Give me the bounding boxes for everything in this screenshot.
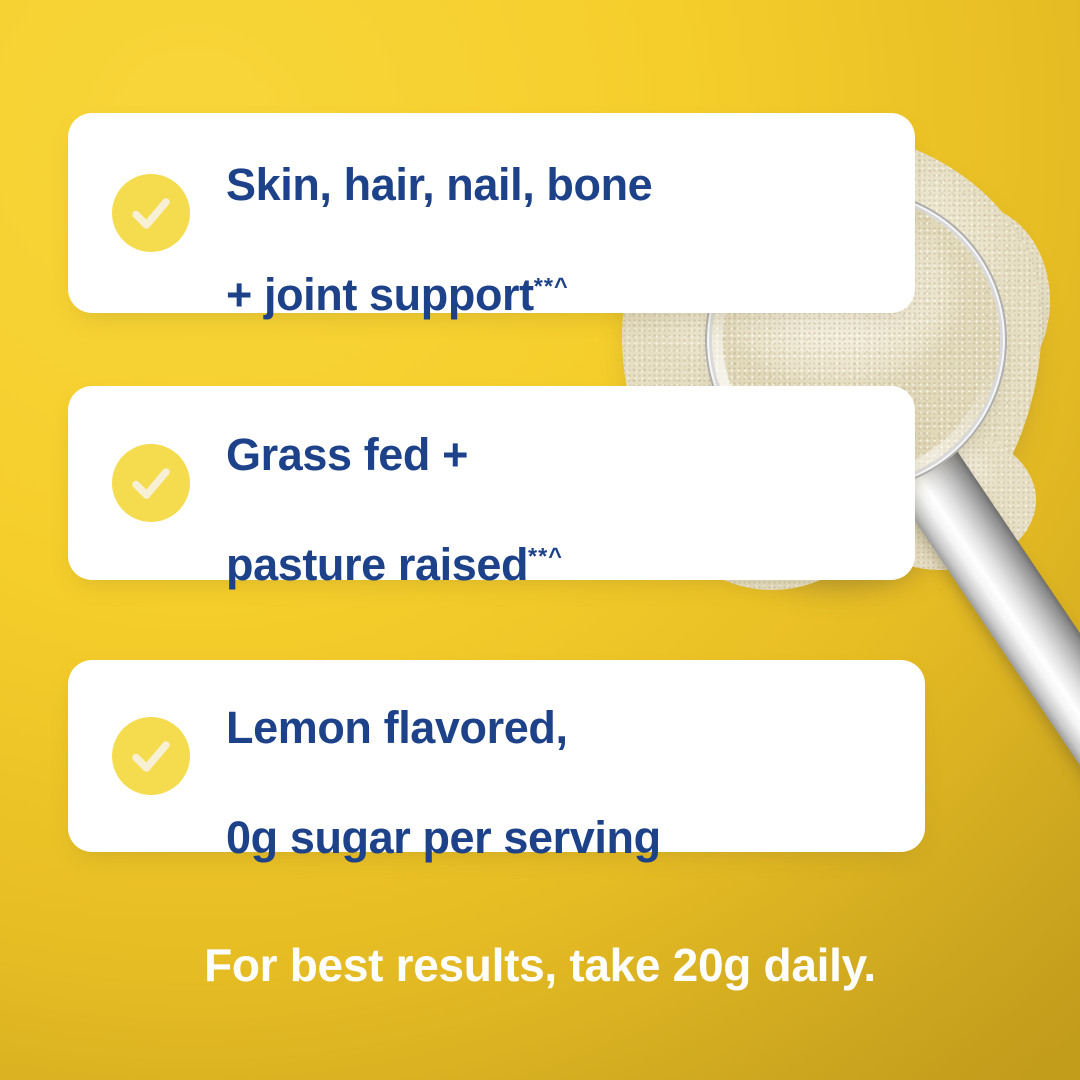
check-icon xyxy=(112,717,190,795)
usage-instruction: For best results, take 20g daily. xyxy=(0,938,1080,992)
benefit-line-2: 0g sugar per serving xyxy=(226,812,661,863)
benefit-card-2: Grass fed + pasture raised**^ xyxy=(68,386,915,580)
benefit-line-1: Lemon flavored, xyxy=(226,702,568,753)
footnote-marker: **^ xyxy=(534,273,569,299)
benefit-text-2: Grass fed + pasture raised**^ xyxy=(226,373,563,593)
benefit-line-1: Skin, hair, nail, bone xyxy=(226,159,652,210)
benefit-card-list: Skin, hair, nail, bone + joint support**… xyxy=(0,0,1080,1080)
promo-graphic: Skin, hair, nail, bone + joint support**… xyxy=(0,0,1080,1080)
benefit-line-2: + joint support xyxy=(226,269,534,320)
benefit-line-1: Grass fed + xyxy=(226,429,468,480)
benefit-text-1: Skin, hair, nail, bone + joint support**… xyxy=(226,103,652,323)
check-icon xyxy=(112,444,190,522)
footnote-marker: **^ xyxy=(528,543,563,569)
check-icon xyxy=(112,174,190,252)
benefit-line-2: pasture raised xyxy=(226,539,528,590)
benefit-card-1: Skin, hair, nail, bone + joint support**… xyxy=(68,113,915,313)
benefit-text-3: Lemon flavored, 0g sugar per serving xyxy=(226,646,661,866)
benefit-card-3: Lemon flavored, 0g sugar per serving xyxy=(68,660,925,852)
